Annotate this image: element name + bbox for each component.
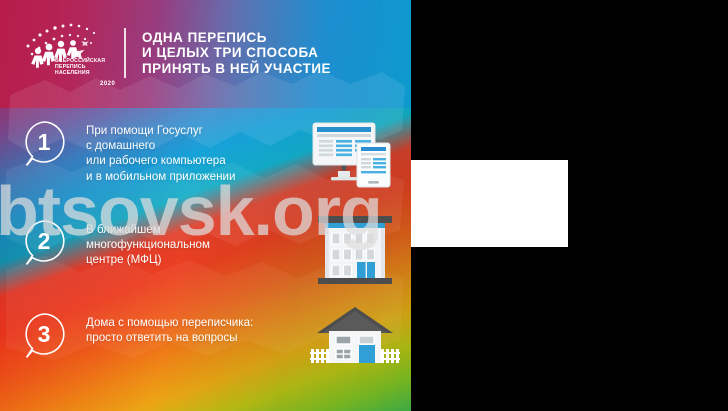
poster-header: ВСЕРОССИЙСКАЯ ПЕРЕПИСЬ НАСЕЛЕНИЯ 2020 ОД… <box>0 18 411 88</box>
census-logo-wordmark: ВСЕРОССИЙСКАЯ ПЕРЕПИСЬ НАСЕЛЕНИЯ <box>55 58 105 76</box>
house-with-fence-icon <box>309 305 401 372</box>
step-text-2: В ближайшем многофункциональном центре (… <box>86 219 210 268</box>
step-item-3: 3 Дома с помощью переписчика: просто отв… <box>22 312 253 360</box>
step-number-badge-2: 2 <box>22 219 70 267</box>
watermark-overflow-clip: btsovsk.org <box>411 0 728 411</box>
step-text-1: При помощи Госуслуг с домашнего или рабо… <box>86 120 235 184</box>
header-divider <box>124 28 126 78</box>
step-item-2: 2 В ближайшем многофункциональном центре… <box>22 219 210 268</box>
step-number-badge-1: 1 <box>22 120 70 168</box>
step-item-1: 1 При помощи Госуслуг с домашнего или ра… <box>22 120 235 184</box>
step-number-badge-3: 3 <box>22 312 70 360</box>
census-logo-line-3: НАСЕЛЕНИЯ <box>55 70 105 76</box>
step-number-1: 1 <box>22 120 66 164</box>
desktop-and-tablet-icon <box>309 121 401 194</box>
step-number-2: 2 <box>22 219 66 263</box>
census-logo-year: 2020 <box>100 81 115 87</box>
step-number-3: 3 <box>22 312 66 356</box>
census-logo: ВСЕРОССИЙСКАЯ ПЕРЕПИСЬ НАСЕЛЕНИЯ 2020 <box>16 20 120 86</box>
screenshot-canvas: ВСЕРОССИЙСКАЯ ПЕРЕПИСЬ НАСЕЛЕНИЯ 2020 ОД… <box>0 0 728 411</box>
poster-image: ВСЕРОССИЙСКАЯ ПЕРЕПИСЬ НАСЕЛЕНИЯ 2020 ОД… <box>0 0 411 411</box>
office-building-icon <box>312 212 398 291</box>
poster-headline: ОДНА ПЕРЕПИСЬ И ЦЕЛЫХ ТРИ СПОСОБА ПРИНЯТ… <box>142 30 331 77</box>
step-text-3: Дома с помощью переписчика: просто ответ… <box>86 312 253 345</box>
